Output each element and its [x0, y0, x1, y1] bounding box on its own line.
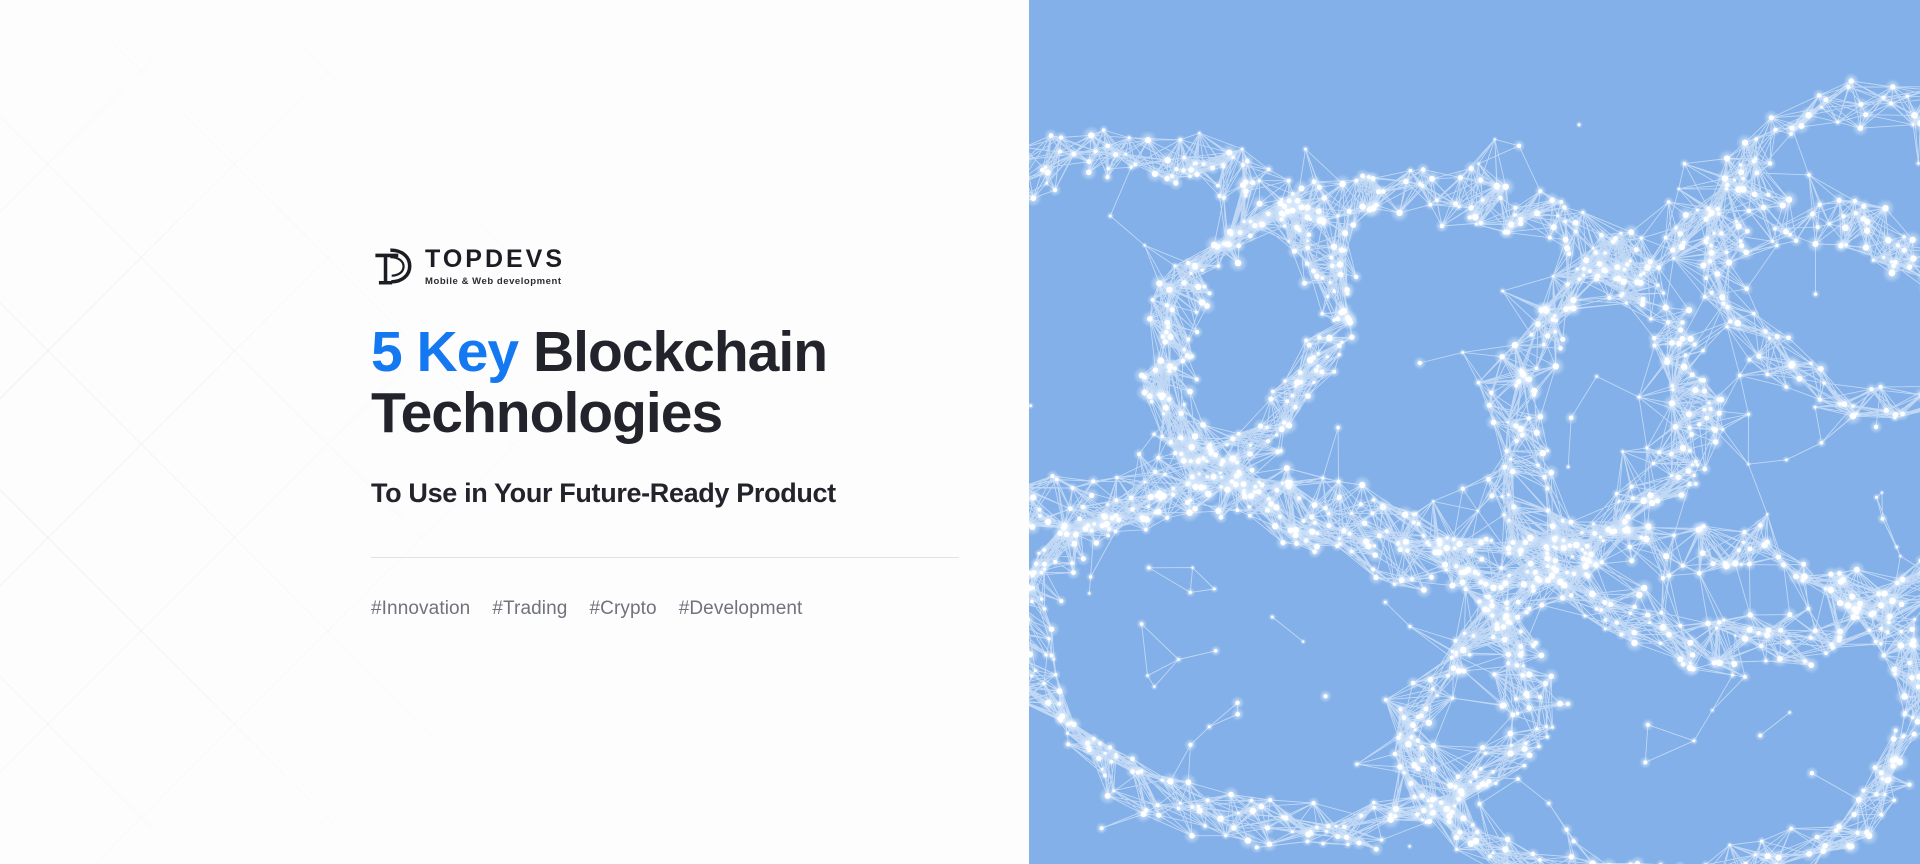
tag-trading[interactable]: #Trading: [492, 598, 567, 620]
tag-list: #Innovation #Trading #Crypto #Developmen…: [371, 598, 991, 620]
divider: [371, 557, 959, 558]
brand-logo[interactable]: TOPDEVS Mobile & Web development: [371, 244, 991, 288]
logo-wordmark: TOPDEVS Mobile & Web development: [425, 245, 565, 287]
logo-name: TOPDEVS: [425, 247, 565, 272]
content-column: TOPDEVS Mobile & Web development 5 Key B…: [371, 0, 991, 864]
headline: 5 Key Blockchain Technologies: [371, 322, 991, 445]
artwork-panel: [1029, 0, 1920, 864]
tag-development[interactable]: #Development: [679, 598, 803, 620]
headline-accent: 5 Key: [371, 320, 518, 384]
blockchain-article-banner: TOPDEVS Mobile & Web development 5 Key B…: [0, 0, 1920, 864]
tag-crypto[interactable]: #Crypto: [589, 598, 656, 620]
tag-innovation[interactable]: #Innovation: [371, 598, 470, 620]
logo-tagline: Mobile & Web development: [425, 277, 565, 287]
blockchain-network-chain-illustration: [1029, 0, 1920, 864]
td-monogram-icon: [371, 244, 415, 288]
subtitle: To Use in Your Future-Ready Product: [371, 475, 991, 512]
text-panel: TOPDEVS Mobile & Web development 5 Key B…: [0, 0, 1029, 864]
